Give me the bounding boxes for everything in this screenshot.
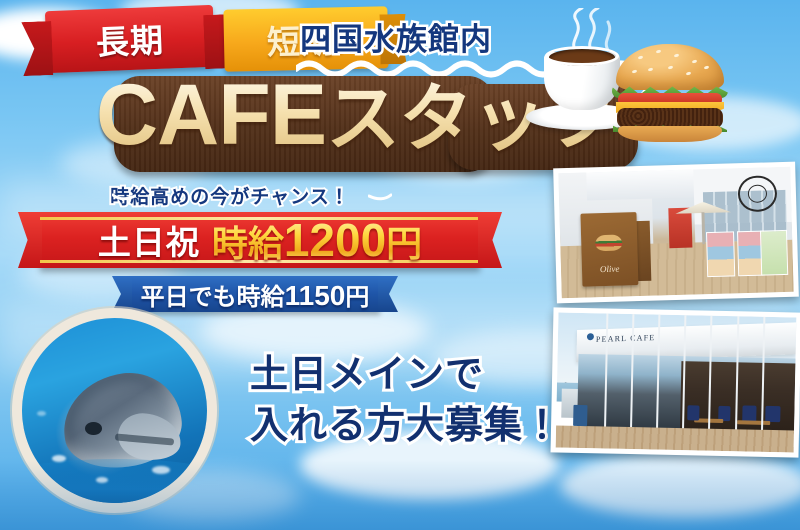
olive-a-frame-sign: Olive bbox=[580, 212, 638, 286]
wage-primary-unit: 円 bbox=[386, 223, 422, 264]
wage-secondary-text: 平日でも時給1150円 bbox=[141, 277, 370, 312]
wage-primary-label: 土日祝 bbox=[98, 216, 200, 264]
cup-rim bbox=[545, 46, 619, 66]
wage-primary-amount: 時給1200円 bbox=[212, 213, 422, 267]
recruitment-banner: 長期 短期. 四国水族館内 CAFEスタッフ bbox=[0, 0, 800, 530]
tag-long-term: 長期 bbox=[45, 5, 215, 73]
dolphin-photo bbox=[22, 318, 207, 503]
bottom-copy-line2: 入れる方大募集！ bbox=[250, 401, 562, 452]
dolphin-body bbox=[57, 366, 187, 474]
wage-primary-prefix: 時給 bbox=[212, 223, 284, 264]
catch-deco-left-icon bbox=[112, 192, 136, 202]
bottom-copy-line1: 土日メインで bbox=[250, 350, 562, 401]
olive-sign-text: Olive bbox=[582, 263, 638, 275]
patty-layer bbox=[617, 108, 723, 128]
catch-deco-right-icon bbox=[368, 192, 392, 202]
wage-secondary-value: 1150 bbox=[285, 280, 346, 311]
wage-secondary-prefix: 平日でも時給 bbox=[141, 284, 285, 311]
bun-top bbox=[616, 44, 724, 90]
wage-secondary-unit: 円 bbox=[345, 284, 369, 311]
wage-primary-value: 1200 bbox=[284, 214, 386, 266]
wage-secondary-ribbon: 平日でも時給1150円 bbox=[130, 276, 380, 312]
water-surface bbox=[22, 459, 207, 503]
bottom-copy: 土日メインで 入れる方大募集！ bbox=[250, 350, 562, 453]
photo-pearl-cafe-exterior: PEARL CAFE bbox=[551, 307, 800, 457]
bun-bottom bbox=[618, 126, 722, 142]
location-label: 四国水族館内 bbox=[300, 14, 492, 59]
photo-terrace-olive: Olive bbox=[553, 162, 799, 304]
title-english: CAFE bbox=[96, 67, 326, 163]
wage-primary-ribbon: 土日祝 時給1200円 bbox=[40, 212, 480, 268]
hamburger-icon bbox=[610, 38, 730, 142]
dolphin-eye bbox=[85, 422, 102, 435]
tag-long-term-label: 長期 bbox=[95, 14, 165, 65]
